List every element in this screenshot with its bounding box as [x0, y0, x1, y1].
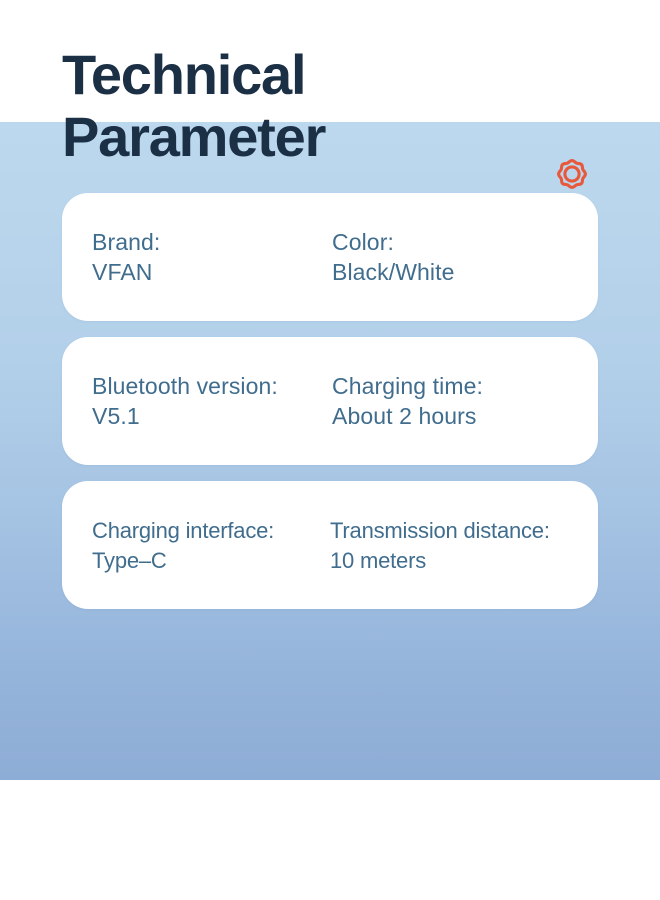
- page-title: Technical Parameter: [62, 44, 482, 168]
- spec-cell: Bluetooth version: V5.1: [92, 372, 332, 431]
- spec-label: Transmission distance:: [330, 516, 598, 545]
- spec-value: About 2 hours: [332, 402, 598, 431]
- spec-cell: Color: Black/White: [332, 228, 598, 287]
- gear-icon: [548, 150, 596, 198]
- spec-value: Type–C: [92, 546, 330, 575]
- spec-cell: Brand: VFAN: [92, 228, 332, 287]
- spec-label: Charging interface:: [92, 516, 330, 545]
- spec-value: VFAN: [92, 258, 332, 287]
- spec-cell: Transmission distance: 10 meters: [330, 516, 598, 575]
- spec-label: Bluetooth version:: [92, 372, 332, 401]
- spec-card: Charging interface: Type–C Transmission …: [62, 481, 598, 609]
- spec-label: Charging time:: [332, 372, 598, 401]
- spec-card-list: Brand: VFAN Color: Black/White Bluetooth…: [62, 193, 598, 609]
- spec-value: V5.1: [92, 402, 332, 431]
- header: Technical Parameter: [62, 44, 598, 214]
- spec-card: Brand: VFAN Color: Black/White: [62, 193, 598, 321]
- spec-cell: Charging interface: Type–C: [92, 516, 330, 575]
- spec-cell: Charging time: About 2 hours: [332, 372, 598, 431]
- spec-value: Black/White: [332, 258, 598, 287]
- spec-value: 10 meters: [330, 546, 598, 575]
- spec-label: Brand:: [92, 228, 332, 257]
- spec-label: Color:: [332, 228, 598, 257]
- spec-sheet-page: Technical Parameter Brand: VFAN Color: B…: [0, 0, 660, 900]
- spec-card: Bluetooth version: V5.1 Charging time: A…: [62, 337, 598, 465]
